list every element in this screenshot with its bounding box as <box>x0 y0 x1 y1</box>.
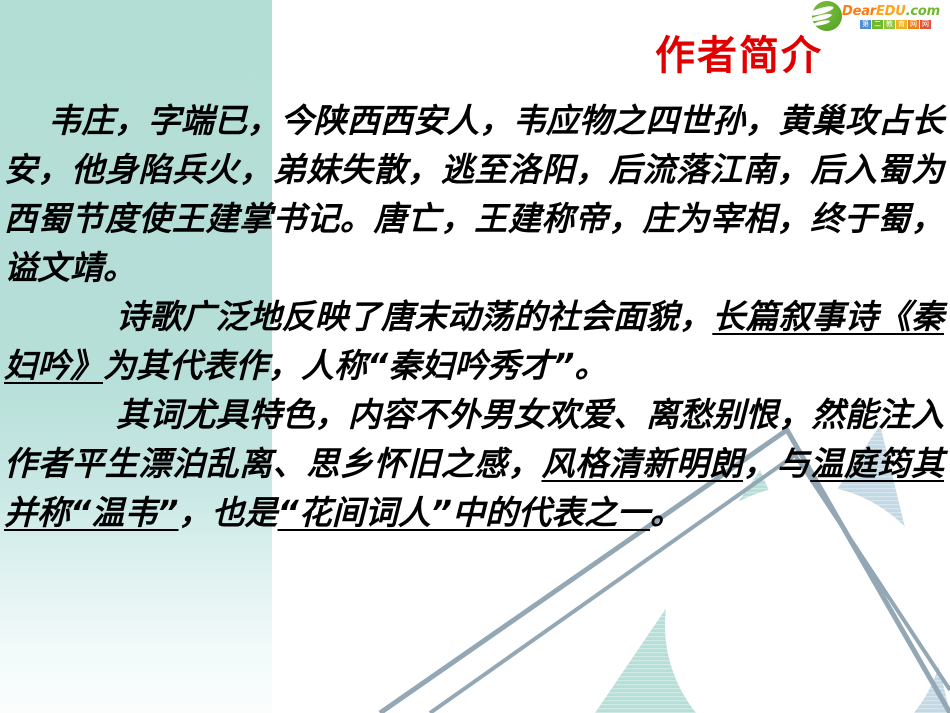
underlined-text: “花间词人”中的代表之一 <box>278 493 651 532</box>
logo-subtitle-char-1: 二 <box>872 20 883 29</box>
logo-text-edu: EDU <box>876 4 906 19</box>
logo-subtitle-blocks: 第二教育网网 <box>860 20 931 29</box>
plain-text: 诗歌广泛地反映了唐末动荡的社会面貌， <box>116 297 712 336</box>
dearedu-logo[interactable]: DearEDU.com 第二教育网网 <box>810 1 946 32</box>
logo-subtitle-char-2: 教 <box>884 20 895 29</box>
logo-wordmark: DearEDU.com <box>842 5 940 18</box>
dearedu-leaf-icon <box>812 1 842 31</box>
plain-text: 。 <box>650 493 683 532</box>
plain-text: 韦庄，字端已，今陕西西安人，韦应物之四世孙，黄巢攻占长安，他身陷兵火，弟妹失散，… <box>4 101 944 287</box>
plain-text: ，也是 <box>179 493 278 532</box>
logo-subtitle-char-3: 育 <box>896 20 907 29</box>
plain-text: ，与 <box>743 444 810 483</box>
body-paragraph-p3: 其词尤具特色，内容不外男女欢爱、离愁别恨，然能注入作者平生漂泊乱离、思乡怀旧之感… <box>0 390 950 537</box>
logo-subtitle-char-4: 网 <box>908 20 919 29</box>
logo-text-dear: Dear <box>842 4 876 19</box>
slide-body-text: 韦庄，字端已，今陕西西安人，韦应物之四世孙，黄巢攻占长安，他身陷兵火，弟妹失散，… <box>0 96 950 537</box>
plain-text: 为其代表作，人称“秦妇吟秀才”。 <box>103 346 608 385</box>
logo-subtitle-char-5: 网 <box>920 20 931 29</box>
logo-text-com: .com <box>906 4 940 19</box>
presentation-slide: DearEDU.com 第二教育网网 作者简介 韦庄，字端已，今陕西西安人，韦应… <box>0 0 950 713</box>
body-paragraph-p2: 诗歌广泛地反映了唐末动荡的社会面貌，长篇叙事诗《秦妇吟》为其代表作，人称“秦妇吟… <box>0 292 950 390</box>
underlined-text: 风格清新明朗 <box>541 444 743 483</box>
logo-subtitle-char-0: 第 <box>860 20 871 29</box>
page-title: 作者简介 <box>655 33 823 79</box>
body-paragraph-p1: 韦庄，字端已，今陕西西安人，韦应物之四世孙，黄巢攻占长安，他身陷兵火，弟妹失散，… <box>0 96 950 292</box>
